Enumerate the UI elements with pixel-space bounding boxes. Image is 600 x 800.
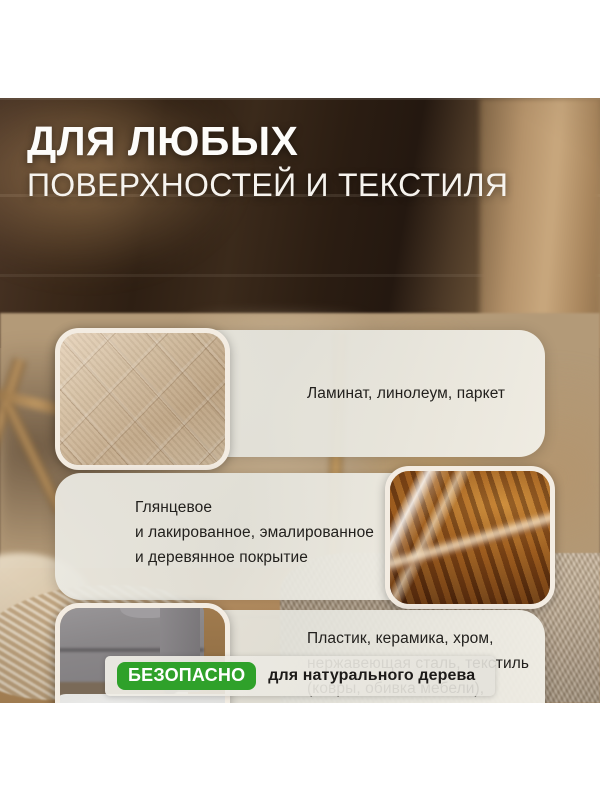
status-badge: БЕЗОПАСНО — [117, 662, 256, 690]
promo-banner: ДЛЯ ЛЮБЫХ ПОВЕРХНОСТЕЙ И ТЕКСТИЛЯ Ламина… — [0, 98, 600, 703]
feature-card-2-text: Глянцевое и лакированное, эмалированное … — [135, 495, 374, 570]
headline-line-2: ПОВЕРХНОСТЕЙ И ТЕКСТИЛЯ — [27, 165, 587, 205]
headline-line-1: ДЛЯ ЛЮБЫХ — [27, 118, 587, 164]
parquet-texture — [60, 333, 225, 465]
headline: ДЛЯ ЛЮБЫХ ПОВЕРХНОСТЕЙ И ТЕКСТИЛЯ — [27, 118, 587, 205]
glossy-lacquered-wood-photo — [385, 466, 555, 609]
glossy-wood-texture — [390, 471, 550, 604]
safe-badge-bar: БЕЗОПАСНО для натурального дерева — [105, 656, 495, 696]
feature-card-1-text: Ламинат, линолеум, паркет — [307, 381, 505, 406]
page-canvas: ДЛЯ ЛЮБЫХ ПОВЕРХНОСТЕЙ И ТЕКСТИЛЯ Ламина… — [0, 0, 600, 800]
safe-badge-caption: для натурального дерева — [268, 667, 475, 685]
parquet-flooring-photo — [55, 328, 230, 470]
